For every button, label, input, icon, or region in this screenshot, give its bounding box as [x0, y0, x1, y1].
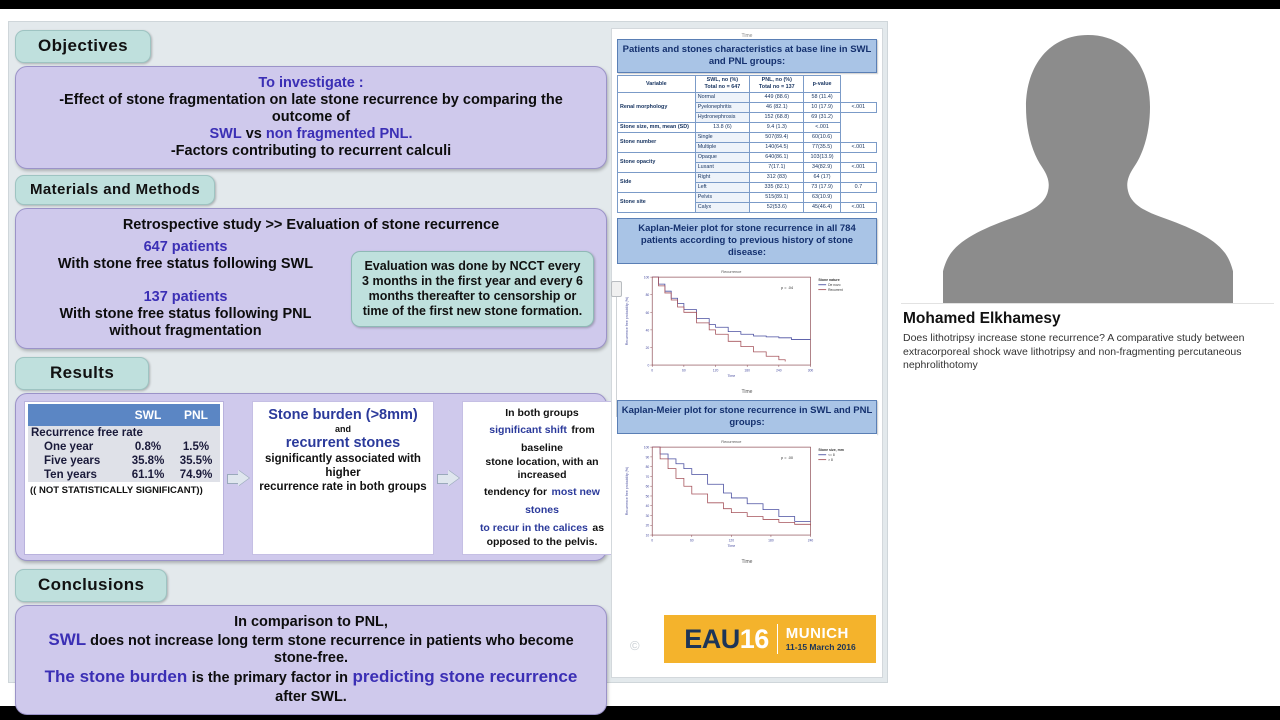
- conclusions-panel: In comparison to PNL, SWL does not incre…: [15, 605, 607, 715]
- baseline-swl-value: 152 (68.8): [750, 113, 804, 123]
- km-chart-2-wrapper: Kaplan-Meier plot for stone recurrence i…: [617, 400, 877, 565]
- svg-text:100: 100: [644, 276, 650, 280]
- baseline-subvariable: Hydronephrosis: [695, 113, 749, 123]
- location-line-1: In both groups: [469, 407, 615, 420]
- speaker-sidebar: Mohamed Elkhamesy Does lithotripsy incre…: [895, 0, 1280, 720]
- table-row: Stone numberSingle507(89.4)60(10.6): [618, 133, 877, 143]
- conclusions-line-2-rest: does not increase long term stone recurr…: [90, 633, 573, 666]
- sidebar-letterbox-top: [895, 0, 1280, 9]
- table-row: SideRight312 (83)64 (17): [618, 173, 877, 183]
- table-row: Renal morphologyNormal449 (88.6)58 (11.4…: [618, 93, 877, 103]
- svg-text:60: 60: [682, 368, 686, 372]
- baseline-pnl-value: 45(46.4): [804, 203, 840, 213]
- svg-text:Stone nature: Stone nature: [818, 278, 839, 282]
- baseline-characteristics-table: Variable SWL, no (%) Total no = 647 PNL,…: [617, 75, 877, 213]
- baseline-variable: Renal morphology: [618, 93, 696, 123]
- stone-burden-heading: Stone burden (>8mm): [259, 407, 427, 424]
- section-tab-materials-and-methods: Materials and Methods: [15, 175, 215, 205]
- baseline-pnl-value: 103(13.9): [804, 153, 840, 163]
- results-swl-one-year: 0.8%: [124, 440, 172, 454]
- svg-text:Recurrence free probability (%: Recurrence free probability (%): [625, 467, 629, 515]
- eau-logo-dates: 11-15 March 2016: [786, 643, 856, 652]
- results-stone-burden-box: Stone burden (>8mm) and recurrent stones…: [252, 401, 434, 555]
- km-chart-1-wrapper: Kaplan-Meier plot for stone recurrence i…: [617, 218, 877, 395]
- baseline-th-swl: SWL, no (%) Total no = 647: [695, 76, 749, 93]
- baseline-pvalue: 0.7: [840, 183, 876, 193]
- baseline-swl-value: 46 (82.1): [750, 103, 804, 113]
- baseline-pnl-value: 69 (31.2): [804, 113, 840, 123]
- baseline-swl-value: 449 (88.6): [750, 93, 804, 103]
- baseline-subvariable: Normal: [695, 93, 749, 103]
- conclusions-predicting-recurrence: predicting stone recurrence: [353, 667, 578, 686]
- svg-text:Stone size, mm: Stone size, mm: [818, 448, 843, 452]
- svg-text:300: 300: [808, 368, 814, 372]
- copyright-watermark: ©: [630, 638, 640, 653]
- table-row: Stone size, mm, mean (SD)13.8 (6)9.4 (1.…: [618, 123, 877, 133]
- svg-text:p = .00: p = .00: [781, 455, 794, 460]
- svg-text:60: 60: [646, 311, 650, 315]
- svg-text:60: 60: [646, 485, 650, 489]
- baseline-subvariable: Single: [695, 133, 749, 143]
- baseline-th-swl-l2: Total no = 647: [697, 84, 748, 91]
- avatar: [901, 9, 1274, 304]
- methods-group2-desc-1: With stone free status following PNL: [28, 306, 343, 323]
- baseline-subvariable: Opaque: [695, 153, 749, 163]
- poster: Objectives To investigate : -Effect of s…: [8, 21, 888, 683]
- results-swl-ten-years: 61.1%: [124, 468, 172, 482]
- baseline-subvariable: Pyelonephritis: [695, 103, 749, 113]
- location-significant-shift: significant shift: [489, 424, 567, 436]
- poster-right-inner: Time Patients and stones characteristics…: [612, 29, 882, 677]
- talk-title: Does lithotripsy increase stone recurren…: [903, 332, 1273, 373]
- speaker-name: Mohamed Elkhamesy: [903, 310, 1273, 328]
- objectives-line-3: SWL vs non fragmented PNL.: [28, 126, 594, 143]
- methods-group2-desc-2: without fragmentation: [28, 323, 343, 340]
- baseline-swl-value: 507(89.4): [750, 133, 804, 143]
- baseline-pnl-value: 64 (17): [804, 173, 840, 183]
- scroll-track: [616, 297, 617, 417]
- svg-text:80: 80: [646, 465, 650, 469]
- methods-group1-desc: With stone free status following SWL: [28, 256, 343, 273]
- table-header-row: SWL PNL: [28, 404, 220, 426]
- baseline-pnl-value: 77(35.5): [804, 143, 840, 153]
- baseline-pvalue: <.001: [840, 143, 876, 153]
- poster-left-column: Objectives To investigate : -Effect of s…: [15, 30, 607, 715]
- results-pnl-five-years: 35.5%: [172, 454, 220, 468]
- baseline-swl-value: 52(53.6): [750, 203, 804, 213]
- section-tab-results: Results: [15, 357, 149, 390]
- baseline-subvariable: Luxant: [695, 163, 749, 173]
- table-row: Ten years 61.1% 74.9%: [28, 468, 220, 482]
- objectives-panel: To investigate : -Effect of stone fragme…: [15, 66, 607, 169]
- baseline-pnl-value: 60(10.6): [804, 133, 840, 143]
- km-chart-1-banner: Kaplan-Meier plot for stone recurrence i…: [617, 218, 877, 264]
- svg-text:0: 0: [651, 368, 653, 372]
- results-col-swl: SWL: [124, 404, 172, 426]
- results-label-one-year: One year: [28, 440, 124, 454]
- sidebar-letterbox-bottom: [895, 706, 1280, 720]
- location-line-3: stone location, with an increased: [469, 456, 615, 482]
- slide-viewport: Objectives To investigate : -Effect of s…: [0, 9, 895, 706]
- results-pnl-ten-years: 74.9%: [172, 468, 220, 482]
- scroll-handle[interactable]: [611, 281, 622, 297]
- eau-logo-wordmark: EAU16: [684, 624, 769, 655]
- baseline-subvariable: Calyx: [695, 203, 749, 213]
- poster-right-column: Time Patients and stones characteristics…: [611, 28, 883, 678]
- results-panel: SWL PNL Recurrence free rate One year 0.…: [15, 393, 607, 561]
- svg-text:Recurrence: Recurrence: [721, 439, 741, 444]
- eau-logo-city: MUNICH: [786, 626, 856, 641]
- eau-logo-eau: EAU: [684, 624, 740, 654]
- flow-arrow-icon-2: [437, 470, 459, 486]
- eau-logo-year: 16: [740, 624, 769, 654]
- location-line-5: to recur in the calices as: [469, 518, 615, 536]
- svg-text:50: 50: [646, 494, 650, 498]
- baseline-swl-value: 335 (82.1): [750, 183, 804, 193]
- svg-text:0: 0: [651, 538, 653, 542]
- flow-arrow-icon-1: [227, 470, 249, 486]
- km-chart-2-banner: Kaplan-Meier plot for stone recurrence i…: [617, 400, 877, 434]
- table-row: Recurrence free rate: [28, 426, 220, 440]
- baseline-variable: Stone number: [618, 133, 696, 153]
- location-line-2: significant shift from baseline: [469, 420, 615, 456]
- baseline-th-pvalue: p-value: [804, 76, 840, 93]
- km-chart-2-svg: Recurrence102030405060708090100060120180…: [619, 436, 875, 554]
- results-col-blank: [28, 404, 124, 426]
- results-label-five-years: Five years: [28, 454, 124, 468]
- svg-text:180: 180: [744, 368, 750, 372]
- location-line-4: tendency for most new stones: [469, 482, 615, 518]
- methods-panel: Retrospective study >> Evaluation of sto…: [15, 208, 607, 349]
- baseline-table-body: Renal morphologyNormal449 (88.6)58 (11.4…: [618, 93, 877, 213]
- results-significance-note: (( NOT STATISTICALLY SIGNIFICANT)): [28, 482, 220, 497]
- methods-group2-count: 137 patients: [28, 289, 343, 306]
- table-row: Stone sitePelvis515(89.1)63(10.9): [618, 193, 877, 203]
- conclusions-stone-burden: The stone burden: [45, 667, 188, 686]
- conclusions-line-2: SWL does not increase long term stone re…: [28, 631, 594, 667]
- results-flow: SWL PNL Recurrence free rate One year 0.…: [24, 401, 598, 555]
- svg-text:De novo: De novo: [828, 283, 840, 287]
- baseline-banner: Patients and stones characteristics at b…: [617, 39, 877, 73]
- eau-logo: EAU16 MUNICH 11-15 March 2016: [664, 615, 876, 663]
- svg-text:60: 60: [690, 538, 694, 542]
- eau-logo-location: MUNICH 11-15 March 2016: [786, 626, 856, 652]
- results-table: SWL PNL Recurrence free rate One year 0.…: [28, 404, 220, 482]
- conclusions-swl: SWL: [48, 630, 86, 649]
- baseline-swl-value: 515(89.1): [750, 193, 804, 203]
- baseline-subvariable: Right: [695, 173, 749, 183]
- baseline-subvariable: Left: [695, 183, 749, 193]
- methods-group1-count: 647 patients: [28, 239, 343, 256]
- objectives-line-4: -Factors contributing to recurrent calcu…: [28, 143, 594, 160]
- baseline-swl-value: 13.8 (6): [695, 123, 749, 133]
- svg-text:70: 70: [646, 475, 650, 479]
- methods-headline: Retrospective study >> Evaluation of sto…: [28, 217, 594, 234]
- svg-text:240: 240: [808, 538, 814, 542]
- svg-text:<= 8: <= 8: [828, 453, 835, 457]
- svg-text:90: 90: [646, 455, 650, 459]
- objectives-pnl: non fragmented PNL.: [266, 126, 413, 142]
- svg-text:10: 10: [646, 534, 650, 538]
- speaker-meta: Mohamed Elkhamesy Does lithotripsy incre…: [903, 310, 1273, 373]
- results-label-ten-years: Ten years: [28, 468, 124, 482]
- stone-burden-body-2: recurrence rate in both groups: [259, 480, 427, 494]
- baseline-th-pnl: PNL, no (%) Total no = 137: [750, 76, 804, 93]
- svg-text:p = .04: p = .04: [781, 285, 794, 290]
- table-row: One year 0.8% 1.5%: [28, 440, 220, 454]
- svg-text:80: 80: [646, 293, 650, 297]
- baseline-pnl-value: 34(82.9): [804, 163, 840, 173]
- objectives-vs: vs: [246, 126, 262, 142]
- baseline-pvalue: <.001: [840, 163, 876, 173]
- baseline-variable: Stone size, mm, mean (SD): [618, 123, 696, 133]
- conclusions-after-swl: after SWL.: [275, 689, 347, 705]
- conclusions-primary-factor: is the primary factor in: [192, 670, 348, 686]
- baseline-swl-value: 7(17.1): [750, 163, 804, 173]
- results-col-pnl: PNL: [172, 404, 220, 426]
- location-recur-calices: to recur in the calices: [480, 522, 588, 534]
- baseline-th-pnl-l1: PNL, no (%): [751, 77, 802, 84]
- baseline-swl-value: 312 (83): [750, 173, 804, 183]
- methods-body: 647 patients With stone free status foll…: [28, 237, 594, 340]
- results-stone-location-box: In both groups significant shift from ba…: [462, 401, 622, 555]
- baseline-swl-value: 640(86.1): [750, 153, 804, 163]
- km-chart-2-caption: Time: [617, 559, 877, 565]
- location-as: as: [592, 522, 604, 534]
- objectives-line-2: -Effect of stone fragmentation on late s…: [28, 92, 594, 126]
- stone-burden-heading-2: recurrent stones: [259, 435, 427, 452]
- km-chart-2-plot: Recurrence102030405060708090100060120180…: [617, 434, 877, 559]
- baseline-pnl-value: 63(10.9): [804, 193, 840, 203]
- methods-evaluation-callout: Evaluation was done by NCCT every 3 mont…: [351, 251, 594, 327]
- svg-text:180: 180: [768, 538, 774, 542]
- objectives-swl: SWL: [209, 126, 241, 142]
- results-table-wrapper: SWL PNL Recurrence free rate One year 0.…: [24, 401, 224, 555]
- baseline-th-swl-l1: SWL, no (%): [697, 77, 748, 84]
- svg-text:20: 20: [646, 346, 650, 350]
- baseline-variable: Stone site: [618, 193, 696, 213]
- svg-text:40: 40: [646, 328, 650, 332]
- svg-text:Time: Time: [728, 374, 736, 378]
- conclusions-line-3: The stone burden is the primary factor i…: [28, 667, 594, 706]
- baseline-subvariable: Pelvis: [695, 193, 749, 203]
- person-silhouette-icon: [943, 17, 1233, 303]
- svg-text:Time: Time: [728, 544, 736, 548]
- results-pnl-one-year: 1.5%: [172, 440, 220, 454]
- location-tendency-for: tendency for: [484, 486, 547, 498]
- section-tab-conclusions: Conclusions: [15, 569, 167, 602]
- svg-text:100: 100: [644, 446, 650, 450]
- eau-logo-divider: [777, 624, 778, 654]
- km-chart-1-plot: Recurrence020406080100060120180240300Rec…: [617, 264, 877, 389]
- baseline-swl-value: 140(64.5): [750, 143, 804, 153]
- table-row: Stone opacityOpaque640(86.1)103(13.9): [618, 153, 877, 163]
- svg-text:20: 20: [646, 524, 650, 528]
- baseline-variable: Side: [618, 173, 696, 193]
- baseline-pvalue: <.001: [804, 123, 840, 133]
- svg-text:0: 0: [647, 364, 649, 368]
- results-row-header: Recurrence free rate: [28, 426, 220, 440]
- baseline-pnl-value: 58 (11.4): [804, 93, 840, 103]
- table-header-row: Variable SWL, no (%) Total no = 647 PNL,…: [618, 76, 877, 93]
- svg-text:Recurrence: Recurrence: [721, 269, 741, 274]
- results-swl-five-years: 35.8%: [124, 454, 172, 468]
- objectives-line-1: To investigate :: [28, 75, 594, 92]
- baseline-pvalue: <.001: [840, 203, 876, 213]
- screen-root: Objectives To investigate : -Effect of s…: [0, 0, 1280, 720]
- baseline-pvalue: <.001: [840, 103, 876, 113]
- baseline-subvariable: Multiple: [695, 143, 749, 153]
- svg-text:> 8: > 8: [828, 458, 833, 462]
- location-line-6: opposed to the pelvis.: [469, 536, 615, 549]
- svg-text:30: 30: [646, 514, 650, 518]
- svg-text:Recurrence free probability (%: Recurrence free probability (%): [625, 297, 629, 345]
- baseline-pnl-value: 10 (17.9): [804, 103, 840, 113]
- conclusions-line-1: In comparison to PNL,: [28, 614, 594, 631]
- svg-text:40: 40: [646, 504, 650, 508]
- baseline-pnl-value: 73 (17.9): [804, 183, 840, 193]
- stone-burden-body-1: significantly associated with higher: [259, 452, 427, 480]
- section-tab-objectives: Objectives: [15, 30, 151, 63]
- baseline-variable: Stone opacity: [618, 153, 696, 173]
- svg-text:240: 240: [776, 368, 782, 372]
- methods-groups: 647 patients With stone free status foll…: [28, 237, 343, 340]
- km-chart-1-svg: Recurrence020406080100060120180240300Rec…: [619, 266, 875, 384]
- svg-text:Recurrent: Recurrent: [828, 288, 843, 292]
- table-row: Five years 35.8% 35.5%: [28, 454, 220, 468]
- baseline-th-variable: Variable: [618, 76, 696, 93]
- baseline-th-pnl-l2: Total no = 137: [751, 84, 802, 91]
- svg-text:120: 120: [729, 538, 735, 542]
- stone-burden-and: and: [259, 424, 427, 435]
- svg-text:120: 120: [713, 368, 719, 372]
- baseline-pnl-value: 9.4 (1.3): [750, 123, 804, 133]
- km-chart-1-caption: Time: [617, 389, 877, 395]
